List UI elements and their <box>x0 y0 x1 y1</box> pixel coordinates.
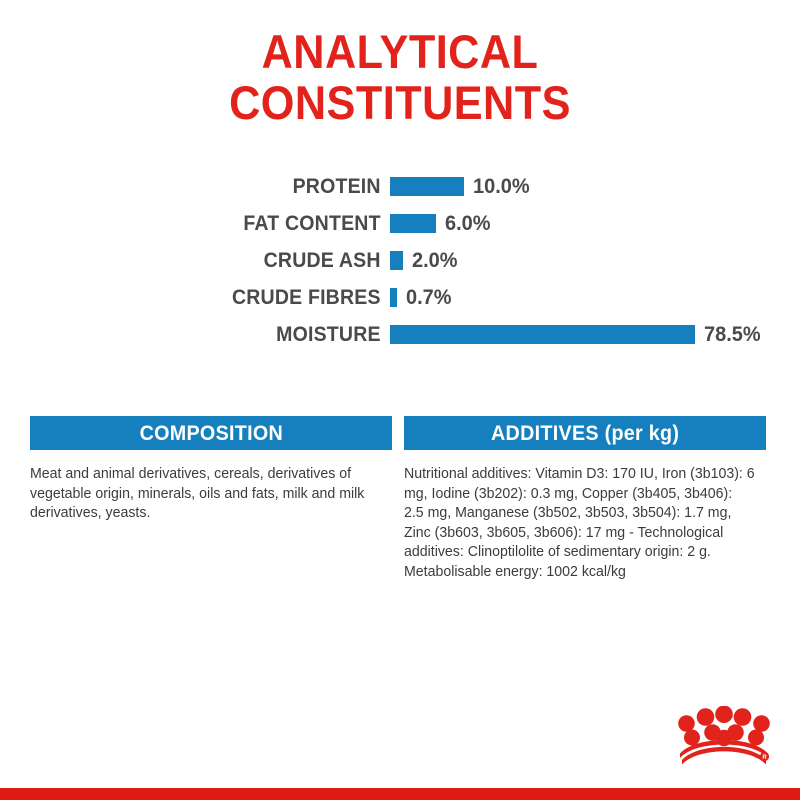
svg-text:R: R <box>762 755 767 761</box>
page-title-line-2: CONSTITUENTS <box>32 77 768 128</box>
panel-header-composition-label: COMPOSITION <box>139 423 282 444</box>
bar-fill-protein <box>390 177 464 196</box>
bar-fill-fat-content <box>390 214 436 233</box>
bar-label-moisture: MOISTURE <box>27 324 390 345</box>
bar-track-crude-ash: 2.0% <box>390 250 460 271</box>
royal-canin-crown-logo: R <box>676 706 772 768</box>
panel-header-composition: COMPOSITION <box>30 416 392 450</box>
chart-row-fat-content: FAT CONTENT 6.0% <box>0 205 800 242</box>
bar-fill-crude-fibres <box>390 288 397 307</box>
bar-label-protein: PROTEIN <box>27 176 390 197</box>
bar-fill-moisture <box>390 325 695 344</box>
panel-composition: COMPOSITION Meat and animal derivatives,… <box>30 416 392 582</box>
bar-value-crude-ash: 2.0% <box>412 250 457 271</box>
bar-value-crude-fibres: 0.7% <box>406 287 451 308</box>
panel-body-additives: Nutritional additives: Vitamin D3: 170 I… <box>404 450 755 582</box>
product-fact-panel: ANALYTICAL CONSTITUENTS PROTEIN 10.0% FA… <box>0 0 800 800</box>
chart-row-crude-ash: CRUDE ASH 2.0% <box>0 242 800 279</box>
bar-value-fat-content: 6.0% <box>445 213 490 234</box>
panel-header-additives: ADDITIVES (per kg) <box>404 416 766 450</box>
bar-track-fat-content: 6.0% <box>390 213 493 234</box>
bottom-accent-bar <box>0 788 800 800</box>
bar-value-moisture: 78.5% <box>704 324 761 345</box>
bar-track-moisture: 78.5% <box>390 324 764 345</box>
page-title-line-1: ANALYTICAL <box>32 26 768 77</box>
crown-icon: R <box>676 706 772 768</box>
panel-additives: ADDITIVES (per kg) Nutritional additives… <box>404 416 766 582</box>
bar-fill-crude-ash <box>390 251 403 270</box>
bar-label-crude-ash: CRUDE ASH <box>27 250 390 271</box>
bar-label-crude-fibres: CRUDE FIBRES <box>27 287 390 308</box>
analytical-constituents-chart: PROTEIN 10.0% FAT CONTENT 6.0% CRUDE ASH… <box>0 168 800 353</box>
panel-body-composition: Meat and animal derivatives, cereals, de… <box>30 450 381 524</box>
chart-row-protein: PROTEIN 10.0% <box>0 168 800 205</box>
bar-value-protein: 10.0% <box>473 176 530 197</box>
page-title: ANALYTICAL CONSTITUENTS <box>0 26 800 128</box>
chart-row-moisture: MOISTURE 78.5% <box>0 316 800 353</box>
bar-label-fat-content: FAT CONTENT <box>27 213 390 234</box>
bar-track-crude-fibres: 0.7% <box>390 287 454 308</box>
panel-header-additives-label: ADDITIVES (per kg) <box>491 423 679 444</box>
chart-row-crude-fibres: CRUDE FIBRES 0.7% <box>0 279 800 316</box>
bar-track-protein: 10.0% <box>390 176 533 197</box>
info-panels: COMPOSITION Meat and animal derivatives,… <box>30 416 770 582</box>
